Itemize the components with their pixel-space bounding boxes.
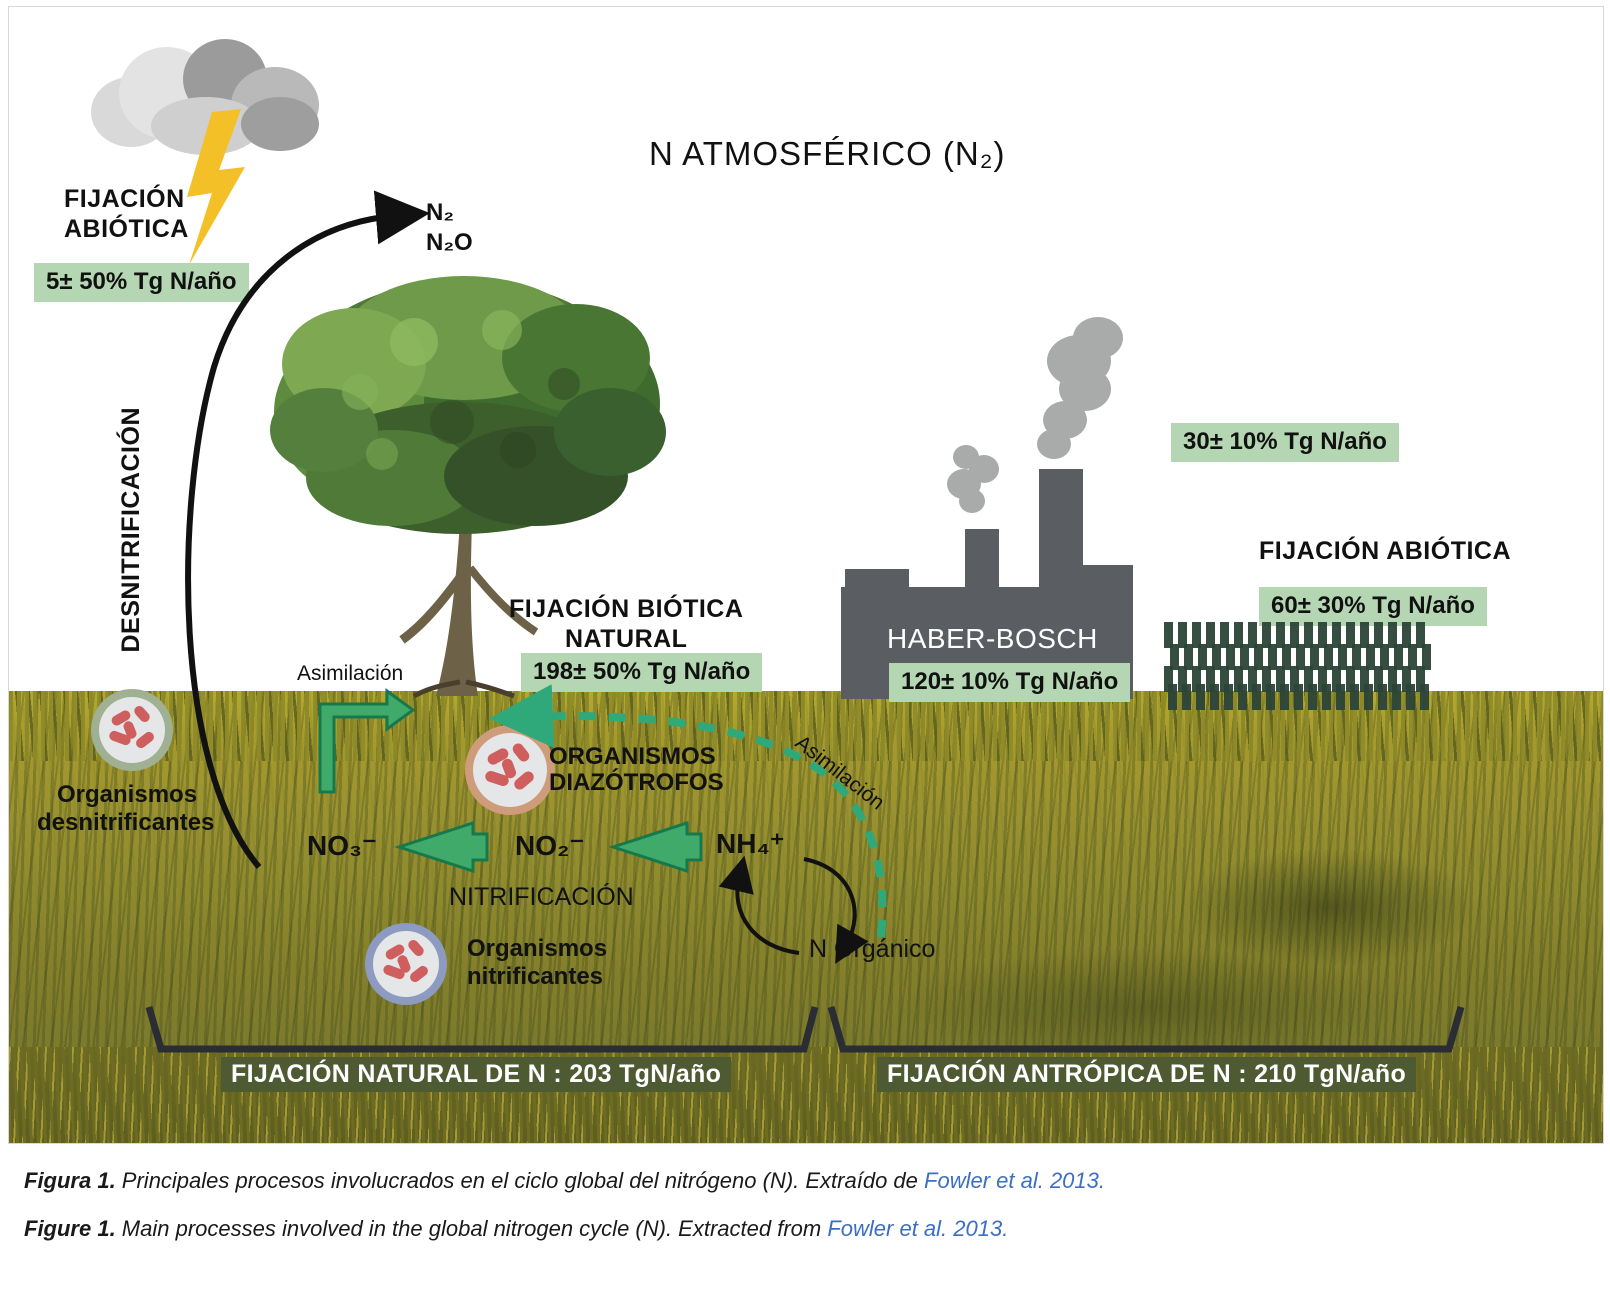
diazotroph-label-line1: ORGANISMOS: [549, 743, 716, 771]
atmospheric-gas-n2: N₂: [426, 199, 454, 227]
page-title: N ATMOSFÉRICO (N₂): [649, 135, 1006, 173]
denitrification-label: DESNITRIFICACIÓN: [117, 407, 147, 653]
crop-field-illustration: [1164, 622, 1429, 707]
storm-cloud-icon: [91, 39, 321, 159]
industrial-emission-value: 30± 10% Tg N/año: [1171, 423, 1399, 462]
organic-n-label: N Orgánico: [809, 935, 935, 964]
assimilation-plant-label: Asimilación: [297, 662, 403, 686]
haber-bosch-factory-icon: HABER-BOSCH: [841, 437, 1133, 699]
abiotic-fixation-right-value: 60± 30% Tg N/año: [1259, 587, 1487, 626]
nitrifying-organisms-line1: Organismos: [467, 935, 607, 963]
nitrification-label: NITRIFICACIÓN: [449, 883, 634, 912]
abiotic-fixation-left-value: 5± 50% Tg N/año: [34, 263, 249, 302]
nitrifying-bacteria-icon: [373, 931, 439, 997]
abiotic-fixation-right-label: FIJACIÓN ABIÓTICA: [1259, 537, 1511, 567]
diazotroph-bacteria-icon: [473, 733, 547, 807]
denitrifying-bacteria-icon: [99, 697, 165, 763]
caption-english-prefix: Figure 1.: [24, 1216, 116, 1241]
caption-spanish-citation[interactable]: Fowler et al. 2013.: [924, 1168, 1105, 1193]
nitrogen-cycle-figure: FIJACIÓN ABIÓTICA 5± 50% Tg N/año N ATMO…: [8, 6, 1604, 1144]
diazotroph-label-line2: DIAZÓTROFOS: [549, 769, 724, 797]
biotic-fixation-label-line1: FIJACIÓN BIÓTICA: [509, 595, 743, 625]
haber-bosch-value: 120± 10% Tg N/año: [889, 663, 1130, 702]
caption-spanish-text: Principales procesos involucrados en el …: [116, 1168, 924, 1193]
abiotic-fixation-left-label-line1: FIJACIÓN: [64, 185, 185, 215]
haber-bosch-title: HABER-BOSCH: [887, 623, 1098, 655]
nitrite-label: NO₂⁻: [515, 829, 584, 862]
caption-spanish-prefix: Figura 1.: [24, 1168, 116, 1193]
biotic-fixation-value: 198± 50% Tg N/año: [521, 653, 762, 692]
ammonium-label: NH₄⁺: [716, 827, 785, 860]
summary-anthropic-fixation: FIJACIÓN ANTRÓPICA DE N : 210 TgN/año: [877, 1057, 1416, 1092]
denitrifying-organisms-line2: desnitrificantes: [37, 809, 214, 837]
denitrifying-organisms-line1: Organismos: [57, 781, 197, 809]
caption-english-text: Main processes involved in the global ni…: [116, 1216, 828, 1241]
figure-page: FIJACIÓN ABIÓTICA 5± 50% Tg N/año N ATMO…: [0, 0, 1610, 1292]
nitrifying-organisms-line2: nitrificantes: [467, 963, 603, 991]
caption-english: Figure 1. Main processes involved in the…: [24, 1216, 1008, 1242]
summary-natural-fixation: FIJACIÓN NATURAL DE N : 203 TgN/año: [221, 1057, 731, 1092]
caption-english-citation[interactable]: Fowler et al. 2013.: [827, 1216, 1008, 1241]
nitrate-label: NO₃⁻: [307, 829, 377, 862]
biotic-fixation-label-line2: NATURAL: [565, 625, 687, 655]
atmospheric-gas-n2o: N₂O: [426, 229, 473, 257]
abiotic-fixation-left-label-line2: ABIÓTICA: [64, 215, 189, 245]
caption-spanish: Figura 1. Principales procesos involucra…: [24, 1168, 1105, 1194]
